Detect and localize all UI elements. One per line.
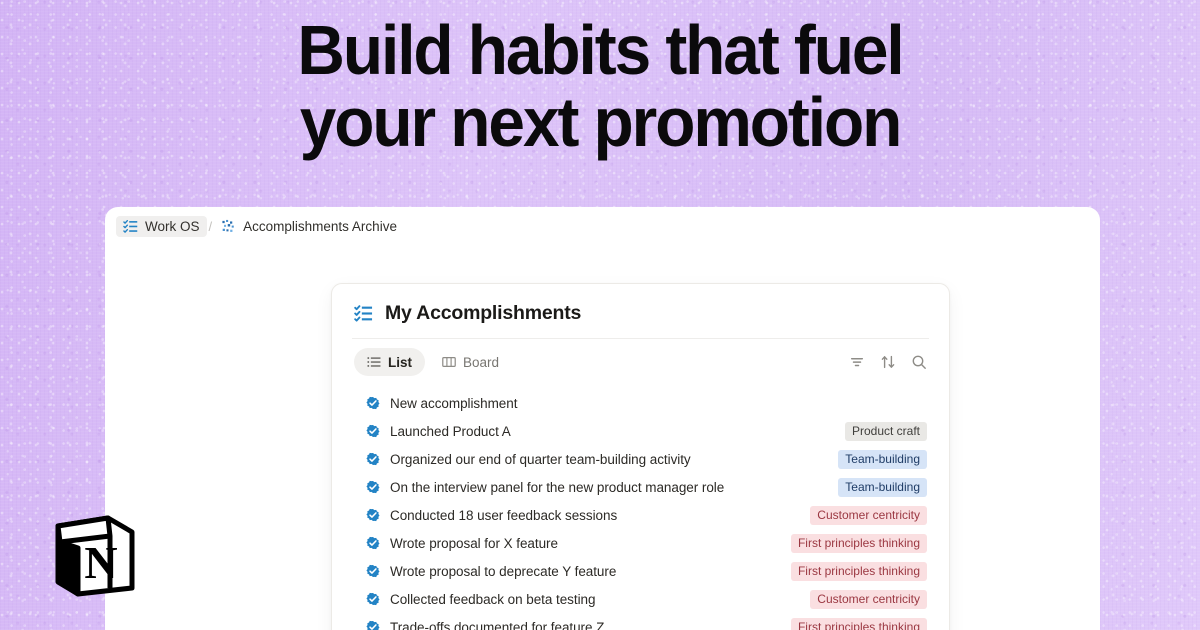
verified-badge-icon xyxy=(366,564,380,578)
list-item[interactable]: Wrote proposal for X featureFirst princi… xyxy=(352,529,929,557)
tab-label: List xyxy=(388,355,412,370)
database-header: My Accomplishments xyxy=(352,284,929,339)
list-item[interactable]: Trade-offs documented for feature ZFirst… xyxy=(352,613,929,630)
verified-badge-icon xyxy=(366,592,380,606)
list-item[interactable]: Conducted 18 user feedback sessionsCusto… xyxy=(352,501,929,529)
status-badge: Customer centricity xyxy=(810,506,927,525)
notion-logo-letter: N xyxy=(84,537,117,588)
verified-badge-icon xyxy=(366,424,380,438)
list-item-label: Wrote proposal to deprecate Y feature xyxy=(390,564,616,579)
filter-icon[interactable] xyxy=(849,354,865,370)
list-item[interactable]: On the interview panel for the new produ… xyxy=(352,473,929,501)
checklist-icon xyxy=(354,304,373,323)
list-item-label: Trade-offs documented for feature Z xyxy=(390,620,604,630)
list-item-label: Organized our end of quarter team-buildi… xyxy=(390,452,691,467)
list-item-label: Collected feedback on beta testing xyxy=(390,592,595,607)
headline-line-1: Build habits that fuel xyxy=(36,14,1164,86)
checklist-icon xyxy=(123,219,138,234)
list-item-label: Launched Product A xyxy=(390,424,511,439)
page-title: My Accomplishments xyxy=(385,302,581,325)
view-toolbar: List Board xyxy=(352,339,929,382)
view-actions xyxy=(849,354,929,370)
verified-badge-icon xyxy=(366,452,380,466)
list-item[interactable]: Wrote proposal to deprecate Y featureFir… xyxy=(352,557,929,585)
list-item-label: Wrote proposal for X feature xyxy=(390,536,558,551)
breadcrumb-item-accomplishments-archive[interactable]: Accomplishments Archive xyxy=(214,216,404,237)
headline-line-2: your next promotion xyxy=(36,86,1164,158)
search-icon[interactable] xyxy=(911,354,927,370)
tab-label: Board xyxy=(463,355,499,370)
list-icon xyxy=(367,355,381,369)
verified-badge-icon xyxy=(366,480,380,494)
breadcrumb: Work OS / Accomplishments Archive xyxy=(105,207,1100,245)
list-item-label: New accomplishment xyxy=(390,396,517,411)
notion-logo: N xyxy=(48,508,140,600)
status-badge: First principles thinking xyxy=(791,534,927,553)
breadcrumb-item-work-os[interactable]: Work OS xyxy=(116,216,207,237)
list-item[interactable]: Organized our end of quarter team-buildi… xyxy=(352,445,929,473)
status-badge: First principles thinking xyxy=(791,618,927,630)
verified-badge-icon xyxy=(366,508,380,522)
list-item-label: Conducted 18 user feedback sessions xyxy=(390,508,617,523)
board-icon xyxy=(442,355,456,369)
status-badge: Team-building xyxy=(838,478,927,497)
status-badge: Product craft xyxy=(845,422,927,441)
list-item-label: On the interview panel for the new produ… xyxy=(390,480,724,495)
accomplishment-list: New accomplishment Launched Product APro… xyxy=(352,382,929,630)
breadcrumb-separator: / xyxy=(207,219,215,234)
breadcrumb-label: Work OS xyxy=(145,219,200,234)
list-item[interactable]: Collected feedback on beta testingCustom… xyxy=(352,585,929,613)
status-badge: Team-building xyxy=(838,450,927,469)
database-card: My Accomplishments List xyxy=(331,283,950,630)
list-item[interactable]: Launched Product AProduct craft xyxy=(352,417,929,445)
sort-icon[interactable] xyxy=(880,354,896,370)
status-badge: First principles thinking xyxy=(791,562,927,581)
list-item[interactable]: New accomplishment xyxy=(352,389,929,417)
tab-list[interactable]: List xyxy=(354,348,425,376)
status-badge: Customer centricity xyxy=(810,590,927,609)
tab-board[interactable]: Board xyxy=(429,348,512,376)
verified-badge-icon xyxy=(366,620,380,630)
app-window: Work OS / Accomplishments Archive xyxy=(105,207,1100,630)
confetti-icon xyxy=(221,219,236,234)
hero-headline: Build habits that fuel your next promoti… xyxy=(36,14,1164,158)
view-tabs: List Board xyxy=(354,348,512,376)
verified-badge-icon xyxy=(366,396,380,410)
breadcrumb-label: Accomplishments Archive xyxy=(243,219,397,234)
verified-badge-icon xyxy=(366,536,380,550)
